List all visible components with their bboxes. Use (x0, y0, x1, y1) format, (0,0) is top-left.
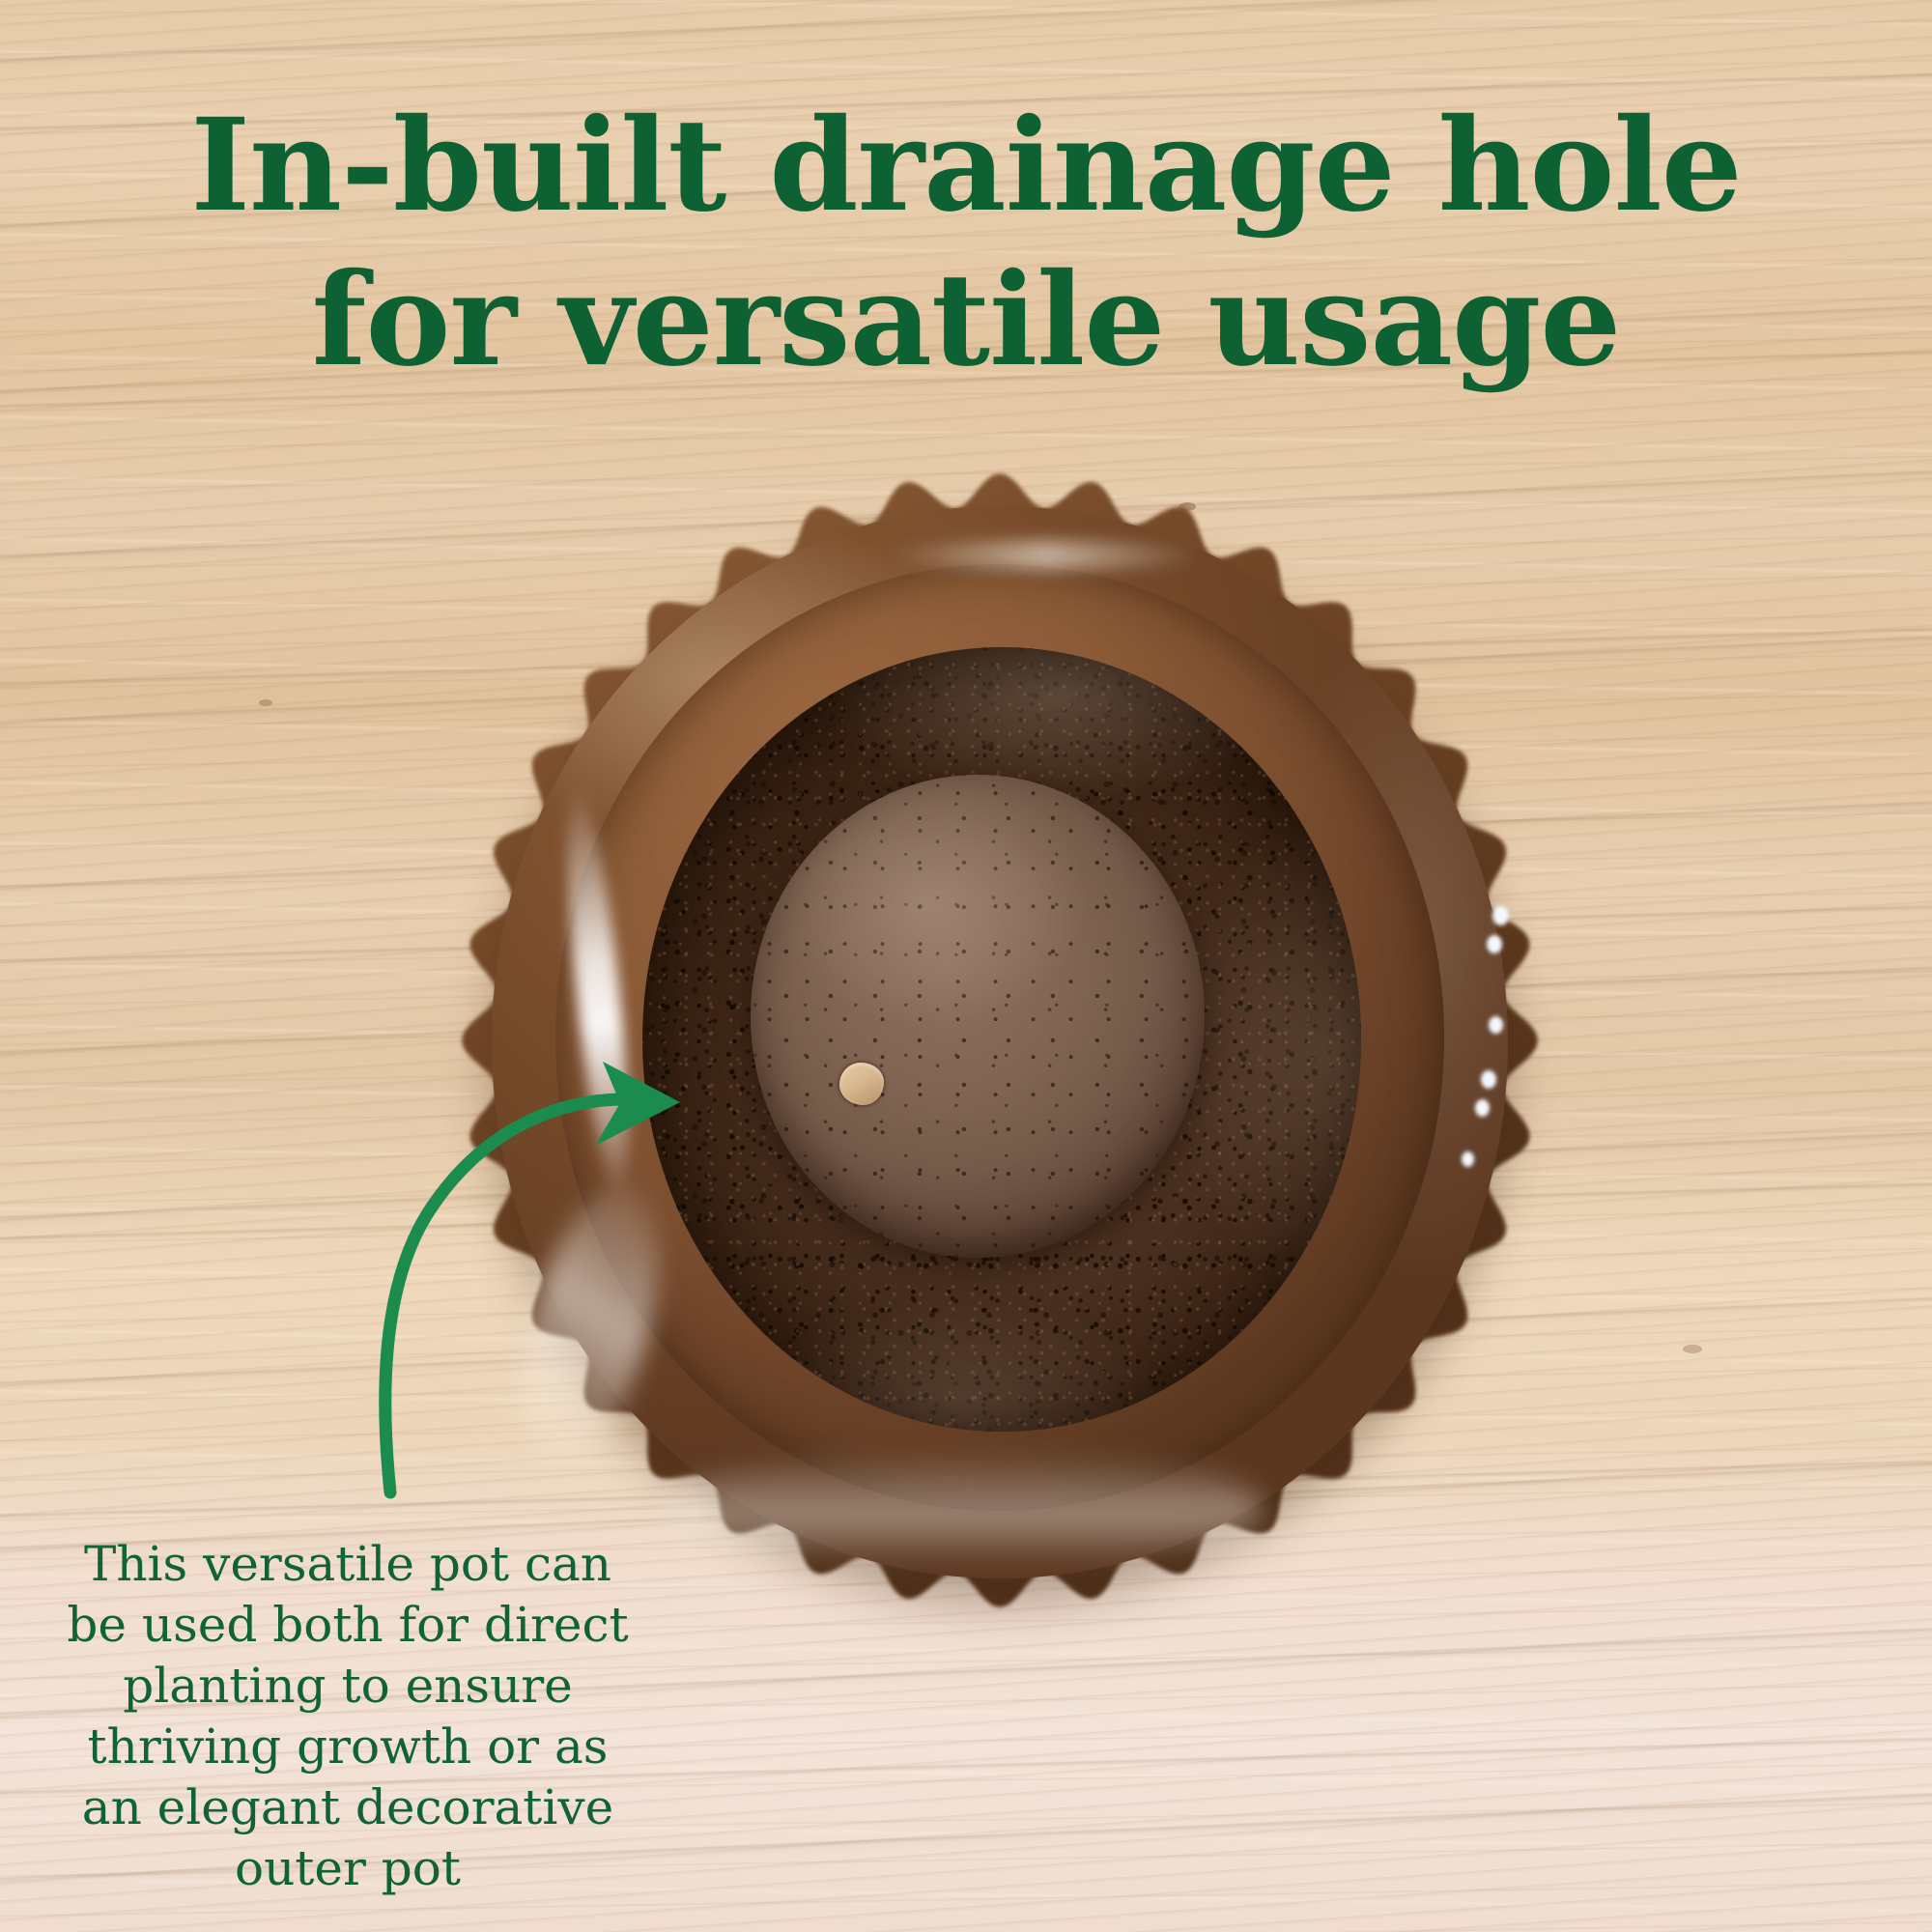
feature-caption: This versatile pot can be used both for … (39, 1534, 657, 1899)
rim-specular-highlights (432, 437, 1567, 1644)
ceramic-plant-pot (432, 437, 1567, 1644)
page-title: In-built drainage hole for versatile usa… (0, 89, 1932, 398)
marketing-image-canvas: In-built drainage hole for versatile usa… (0, 0, 1932, 1932)
